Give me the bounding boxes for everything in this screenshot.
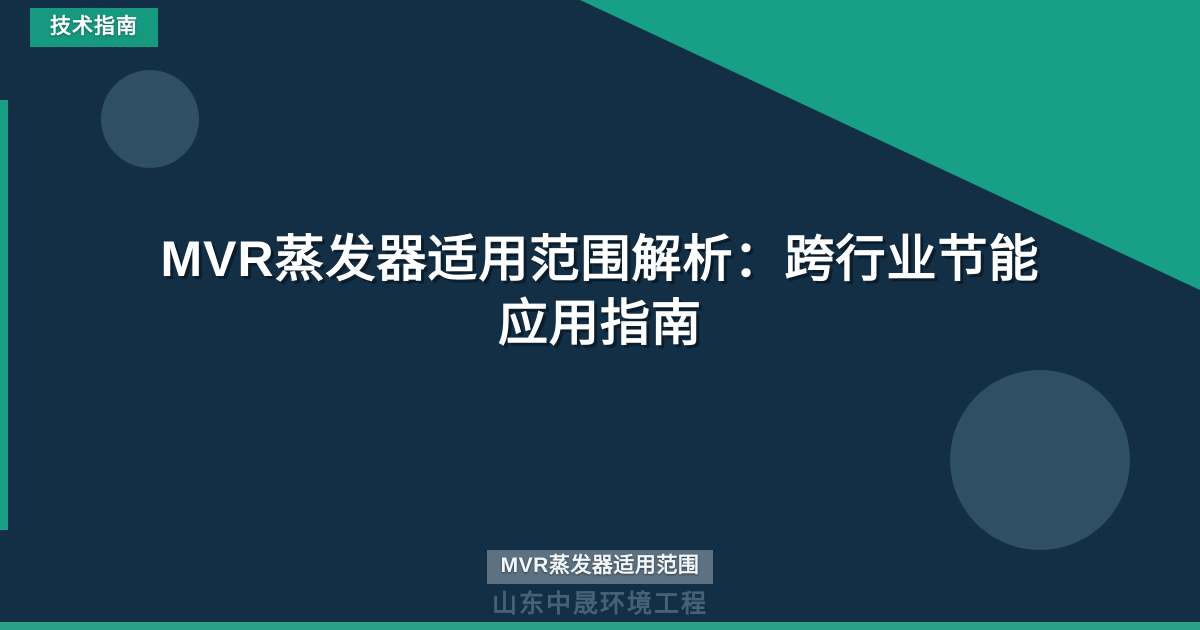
cover-canvas: 技术指南 MVR蒸发器适用范围解析：跨行业节能应用指南 MVR蒸发器适用范围 山… bbox=[0, 0, 1200, 630]
watermark-footer: MVR蒸发器适用范围 山东中晟环境工程 bbox=[0, 550, 1200, 618]
decorative-circle-top-left bbox=[101, 70, 199, 168]
left-accent-bar bbox=[0, 100, 8, 530]
watermark-company-name: 山东中晟环境工程 bbox=[0, 591, 1200, 619]
watermark-topic-badge: MVR蒸发器适用范围 bbox=[487, 550, 714, 583]
category-badge[interactable]: 技术指南 bbox=[30, 8, 158, 47]
bottom-accent-bar bbox=[0, 622, 1200, 630]
page-title: MVR蒸发器适用范围解析：跨行业节能应用指南 bbox=[150, 227, 1050, 403]
